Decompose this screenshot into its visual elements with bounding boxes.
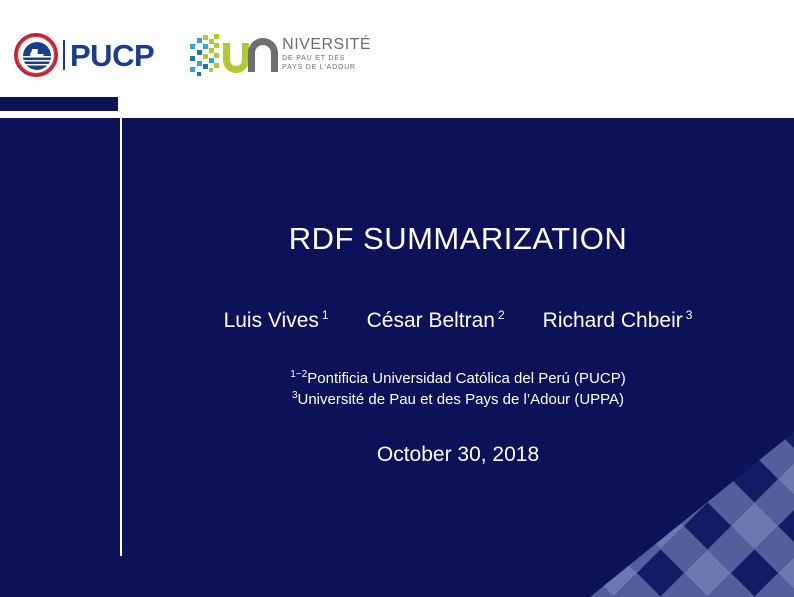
- slide-header: PUCP NIVERSITÉ DE PAU ET DES PAYS DE L'A…: [0, 0, 794, 97]
- title-block: RDF SUMMARIZATION Luis Vives1César Beltr…: [122, 118, 794, 597]
- affiliation-list: 1−2Pontificia Universidad Católica del P…: [122, 368, 794, 411]
- pucp-seal-icon: [14, 33, 58, 77]
- presentation-slide: PUCP NIVERSITÉ DE PAU ET DES PAYS DE L'A…: [0, 0, 794, 597]
- uppa-wordmark-line3: PAYS DE L'ADOUR: [282, 63, 371, 72]
- uppa-wordmark-line2: DE PAU ET DES: [282, 54, 371, 63]
- author-name: Luis Vives: [224, 309, 319, 332]
- uppa-pixel: [203, 54, 208, 59]
- logo-row: PUCP NIVERSITÉ DE PAU ET DES PAYS DE L'A…: [14, 33, 371, 77]
- author-3: Richard Chbeir3: [543, 308, 693, 333]
- uppa-logo: NIVERSITÉ DE PAU ET DES PAYS DE L'ADOUR: [190, 34, 371, 76]
- author-affiliation-mark: 2: [498, 308, 505, 322]
- uppa-pixel: [214, 53, 219, 58]
- uppa-pixel: [203, 44, 208, 49]
- uppa-wordmark-line1: NIVERSITÉ: [282, 37, 371, 54]
- pucp-divider: [63, 40, 65, 70]
- presentation-date: October 30, 2018: [122, 443, 794, 467]
- uppa-pixel: [209, 68, 213, 72]
- author-1: Luis Vives1: [224, 308, 329, 333]
- author-affiliation-mark: 3: [686, 308, 693, 322]
- uppa-pixel: [197, 72, 201, 76]
- uppa-pixel-grid-icon: [190, 34, 220, 76]
- affiliation-name: Pontificia Universidad Católica del Perú…: [307, 370, 625, 387]
- affiliation-name: Université de Pau et des Pays de l’Adour…: [298, 391, 625, 408]
- uppa-wordmark: NIVERSITÉ DE PAU ET DES PAYS DE L'ADOUR: [282, 37, 371, 73]
- author-affiliation-mark: 1: [322, 308, 329, 322]
- author-name: Richard Chbeir: [543, 309, 683, 332]
- uppa-pixel: [197, 38, 202, 43]
- author-2: César Beltran2: [367, 308, 505, 333]
- pucp-seal-inner: [23, 42, 51, 70]
- uppa-pixel: [197, 50, 202, 55]
- page-title: RDF SUMMARIZATION: [122, 221, 794, 257]
- uppa-pixel: [214, 34, 219, 39]
- affiliation-1: 1−2Pontificia Universidad Católica del P…: [122, 368, 794, 389]
- uppa-letter-u-icon: [223, 35, 249, 75]
- affiliation-2: 3Université de Pau et des Pays de l’Adou…: [122, 389, 794, 410]
- author-list: Luis Vives1César Beltran2Richard Chbeir3: [122, 308, 794, 333]
- pucp-wave-icon: [23, 56, 51, 67]
- uppa-pixel: [203, 64, 208, 69]
- author-name: César Beltran: [367, 309, 495, 332]
- pucp-logo: PUCP: [14, 33, 154, 77]
- uppa-pixel: [203, 35, 208, 40]
- uppa-pixel: [214, 63, 219, 68]
- uppa-pixel: [197, 61, 202, 66]
- pucp-wordmark: PUCP: [70, 40, 154, 71]
- header-accent-bar: [0, 97, 118, 111]
- uppa-pixel: [190, 67, 195, 72]
- uppa-pixel: [214, 43, 219, 48]
- uppa-letter-n-icon: [248, 34, 278, 76]
- header-separator-gap: [0, 111, 794, 118]
- affiliation-mark: 1−2: [290, 369, 307, 380]
- uppa-pixel: [190, 56, 195, 61]
- uppa-pixel: [190, 44, 195, 49]
